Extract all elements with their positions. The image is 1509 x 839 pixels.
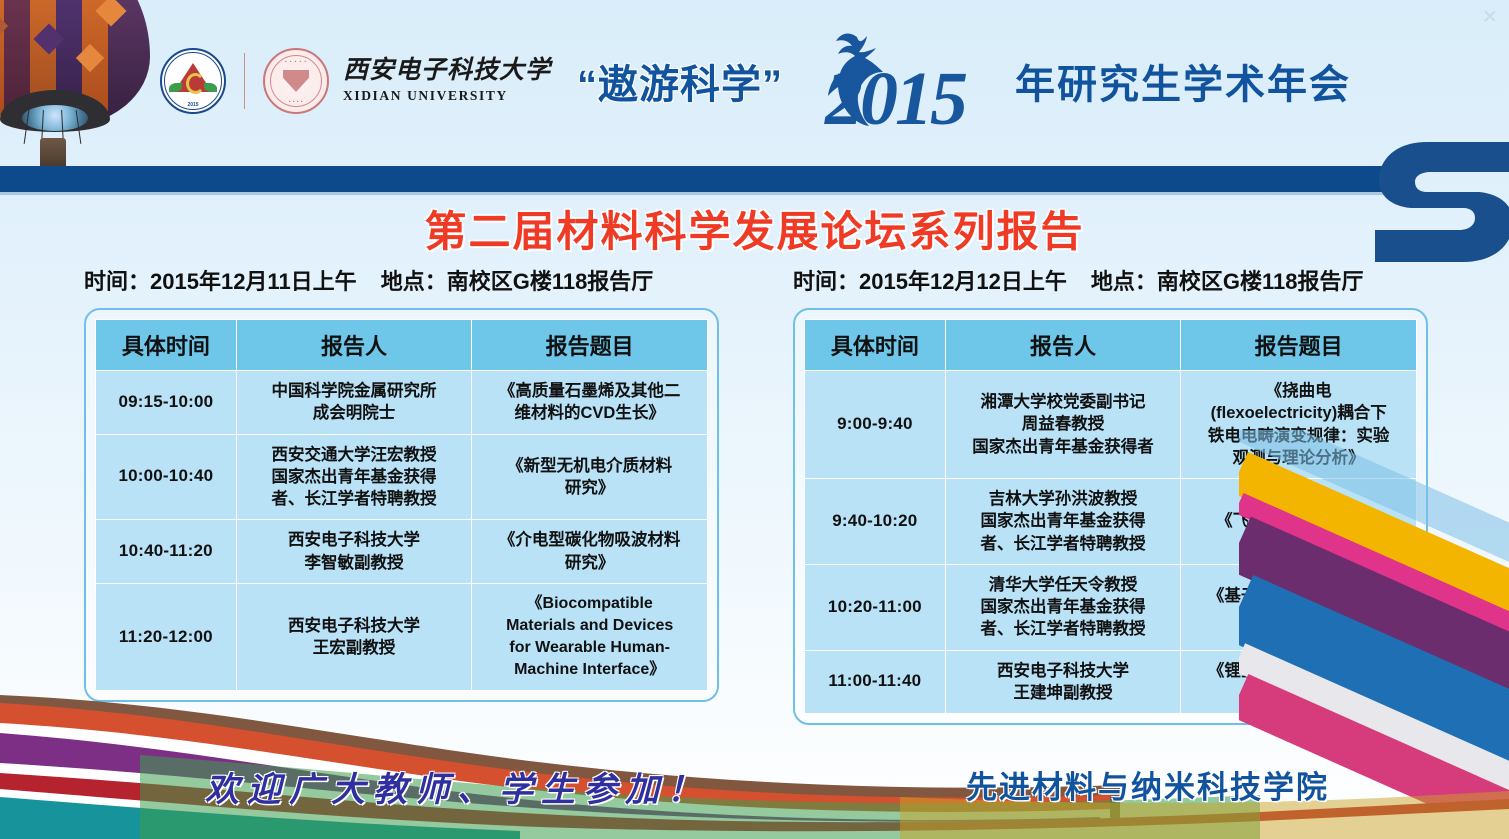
table-header-row: 具体时间 报告人 报告题目 [805,320,1417,371]
cell-speaker: 中国科学院金属研究所成会明院士 [236,371,472,435]
year-logo: 2015 [801,27,1001,135]
bottom-ribbons-decoration: 欢迎广大教师、学生参加！ 先进材料与纳米科技学院 [0,689,1509,839]
cell-speaker: 吉林大学孙洪波教授国家杰出青年基金获得者、长江学者特聘教授 [945,479,1181,565]
table-row: 10:00-10:40西安交通大学汪宏教授国家杰出青年基金获得者、长江学者特聘教… [96,434,708,520]
header-navy-bar-shadow [0,192,1400,195]
cell-time: 10:20-11:00 [805,564,946,650]
cell-time: 09:15-10:00 [96,371,237,435]
conference-slogan: “遨游科学” [577,52,783,110]
header-divider [244,53,245,109]
poster-canvas: ✕ [0,0,1509,839]
column-header-speaker: 报告人 [236,320,472,371]
page-header: 2015 • • • • • • • • • 西安电子科技大学 XIDIAN U… [0,0,1509,170]
time-label-day1: 时间： [84,269,150,294]
welcome-slogan: 欢迎广大教师、学生参加！ [205,762,709,811]
university-name: 西安电子科技大学 XIDIAN UNIVERSITY [343,58,551,103]
column-header-topic: 报告题目 [1181,320,1417,371]
cell-speaker: 湘潭大学校党委副书记周益春教授国家杰出青年基金获得者 [945,371,1181,479]
time-label-day2: 时间： [793,269,859,294]
header-navy-bar [0,166,1400,192]
cell-topic: 《新型无机电介质材料研究》 [472,434,708,520]
table-row: 10:40-11:20西安电子科技大学李智敏副教授《介电型碳化物吸波材料研究》 [96,520,708,584]
cell-topic: 《BiocompatibleMaterials and Devicesfor W… [472,583,708,690]
place-value-day2: 南校区G楼118报告厅 [1157,269,1364,294]
time-value-day1: 2015年12月11日上午 [150,269,357,294]
cell-speaker: 清华大学任天令教授国家杰出青年基金获得者、长江学者特聘教授 [945,564,1181,650]
column-header-time: 具体时间 [96,320,237,371]
year-text: 2015 [825,61,965,137]
column-header-speaker: 报告人 [945,320,1181,371]
emblem-year: 2015 [162,102,224,108]
table-header-row: 具体时间 报告人 报告题目 [96,320,708,371]
college-name: 先进材料与纳米科技学院 [966,762,1329,807]
cell-topic: 《介电型碳化物吸波材料研究》 [472,520,708,584]
time-value-day2: 2015年12月12日上午 [859,269,1067,294]
header-tail-text: 年研究生学术年会 [1015,52,1351,110]
schedule-table-day1: 具体时间 报告人 报告题目 09:15-10:00中国科学院金属研究所成会明院士… [95,319,708,691]
cell-time: 10:00-10:40 [96,434,237,520]
place-label-day2: 地点： [1091,269,1157,294]
cell-topic: 《高质量石墨烯及其他二维材料的CVD生长》 [472,371,708,435]
session-info-day1: 时间：2015年12月11日上午地点：南校区G楼118报告厅 [84,264,653,296]
session-info-day2: 时间：2015年12月12日上午地点：南校区G楼118报告厅 [793,264,1364,296]
cell-time: 11:20-12:00 [96,583,237,690]
page-title: 第二届材料科学发展论坛系列报告 [0,198,1509,259]
table-row: 11:20-12:00西安电子科技大学王宏副教授《BiocompatibleMa… [96,583,708,690]
cell-time: 9:00-9:40 [805,371,946,479]
cell-speaker: 西安交通大学汪宏教授国家杰出青年基金获得者、长江学者特聘教授 [236,434,472,520]
xidian-seal-icon: • • • • • • • • • [263,48,329,114]
cell-time: 9:40-10:20 [805,479,946,565]
cell-speaker: 西安电子科技大学李智敏副教授 [236,520,472,584]
cell-speaker: 西安电子科技大学王宏副教授 [236,583,472,690]
university-name-cn: 西安电子科技大学 [343,58,551,84]
place-label-day1: 地点： [381,269,447,294]
schedule-body-day1: 09:15-10:00中国科学院金属研究所成会明院士《高质量石墨烯及其他二维材料… [96,371,708,691]
schedule-card-day1: 具体时间 报告人 报告题目 09:15-10:00中国科学院金属研究所成会明院士… [84,308,719,702]
cell-time: 10:40-11:20 [96,520,237,584]
table-row: 09:15-10:00中国科学院金属研究所成会明院士《高质量石墨烯及其他二维材料… [96,371,708,435]
column-header-topic: 报告题目 [472,320,708,371]
column-header-time: 具体时间 [805,320,946,371]
university-name-en: XIDIAN UNIVERSITY [343,88,551,104]
place-value-day1: 南校区G楼118报告厅 [447,269,654,294]
conference-emblem-icon: 2015 [160,48,226,114]
